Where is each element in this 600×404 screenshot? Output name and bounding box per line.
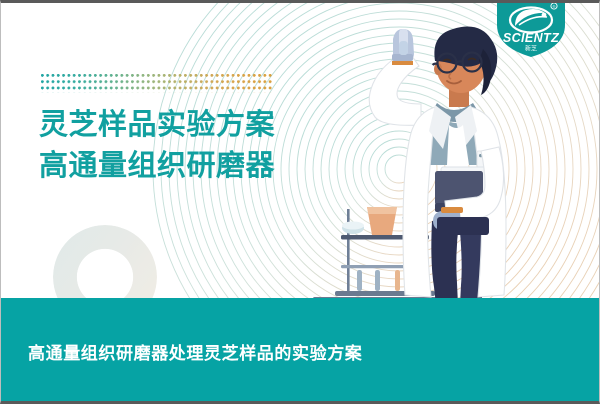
- poster-canvas: 灵芝样品实验方案 高通量组织研磨器: [1, 3, 599, 401]
- bottom-banner: 高通量组织研磨器处理灵芝样品的实验方案: [1, 298, 599, 401]
- scientz-logo[interactable]: ® SCIENTZ 新芝: [495, 3, 567, 59]
- dot-gradient-strip: [41, 74, 274, 93]
- poster-root: 灵芝样品实验方案 高通量组织研磨器: [0, 0, 600, 404]
- scientist-figure: [369, 27, 506, 303]
- logo-wordmark: SCIENTZ: [503, 31, 560, 45]
- banner-caption: 高通量组织研磨器处理灵芝样品的实验方案: [28, 339, 362, 364]
- scientist-illustration: [301, 21, 599, 303]
- registered-mark: ®: [553, 4, 556, 9]
- logo-wordmark-cn: 新芝: [525, 45, 537, 53]
